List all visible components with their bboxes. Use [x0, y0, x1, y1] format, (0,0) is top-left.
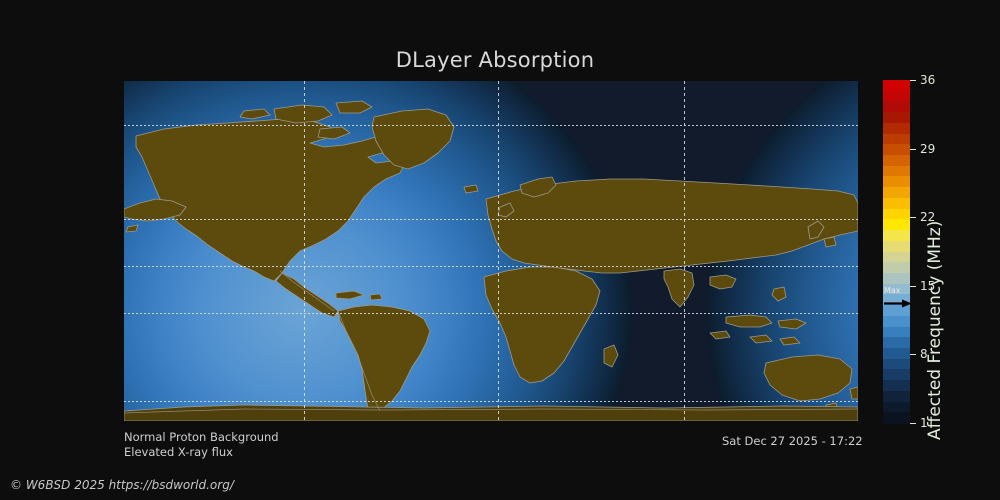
proton-background-note: Normal Proton Background	[124, 430, 279, 444]
colorbar-band	[883, 402, 910, 413]
colorbar-band	[883, 112, 910, 123]
colorbar-band	[883, 380, 910, 391]
colorbar-band	[883, 369, 910, 380]
colorbar-band	[883, 187, 910, 198]
xray-flux-note: Elevated X-ray flux	[124, 445, 233, 459]
colorbar-band	[883, 144, 910, 155]
colorbar-band	[883, 252, 910, 263]
colorbar-band	[883, 305, 910, 316]
colorbar-band	[883, 316, 910, 327]
colorbar-band	[883, 101, 910, 112]
colorbar-band	[883, 348, 910, 359]
colorbar-band	[883, 294, 910, 305]
colorbar-tick-mark	[910, 80, 916, 81]
colorbar-band	[883, 80, 910, 91]
colorbar-band	[883, 198, 910, 209]
colorbar-band	[883, 337, 910, 348]
colorbar-tick-mark	[910, 354, 916, 355]
page-title: DLayer Absorption	[0, 48, 990, 72]
colorbar-tick-mark	[910, 286, 916, 287]
world-map-panel[interactable]	[124, 81, 858, 421]
colorbar-band	[883, 166, 910, 177]
colorbar-band	[883, 123, 910, 134]
colorbar-band	[883, 262, 910, 273]
colorbar-band	[883, 284, 910, 295]
timestamp-label: Sat Dec 27 2025 - 17:22	[722, 434, 863, 448]
colorbar-tick-mark	[910, 217, 916, 218]
colorbar-band	[883, 359, 910, 370]
copyright-label: © W6BSD 2025 https://bsdworld.org/	[10, 478, 234, 492]
world-map-canvas	[124, 81, 858, 421]
colorbar-band	[883, 241, 910, 252]
colorbar-band	[883, 412, 910, 423]
dlayer-absorption-app: DLayer Absorption	[0, 0, 1000, 500]
colorbar-band	[883, 219, 910, 230]
colorbar-tick-mark	[910, 423, 916, 424]
colorbar-band	[883, 91, 910, 102]
colorbar-band	[883, 391, 910, 402]
colorbar-band	[883, 134, 910, 145]
colorbar-tick-mark	[910, 149, 916, 150]
colorbar-band	[883, 176, 910, 187]
colorbar-band	[883, 273, 910, 284]
colorbar[interactable]	[883, 80, 910, 423]
colorbar-axis-label: Affected Frequency (MHz)	[925, 60, 949, 440]
colorbar-band	[883, 327, 910, 338]
colorbar-band	[883, 209, 910, 220]
colorbar-band	[883, 230, 910, 241]
colorbar-gradient	[883, 80, 910, 423]
colorbar-band	[883, 155, 910, 166]
